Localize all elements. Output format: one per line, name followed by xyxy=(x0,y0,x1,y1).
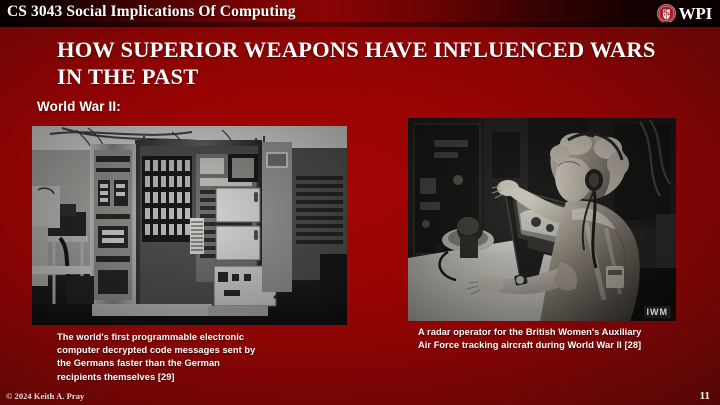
copyright-notice: © 2024 Keith A. Pray xyxy=(6,392,84,401)
course-title: CS 3043 Social Implications Of Computing xyxy=(7,3,296,21)
slide: CS 3043 Social Implications Of Computing… xyxy=(0,0,720,405)
wpi-seal-icon xyxy=(657,4,676,23)
radar-operator-photo: IWM xyxy=(408,118,676,321)
iwm-watermark: IWM xyxy=(644,306,672,318)
colossus-computer-photo xyxy=(32,126,347,325)
slide-title: How Superior Weapons Have Influenced War… xyxy=(57,36,657,90)
wpi-wordmark: WPI xyxy=(679,4,712,23)
caption-line: Air Force tracking aircraft during World… xyxy=(418,339,698,352)
radar-operator-caption: A radar operator for the British Women's… xyxy=(418,326,698,352)
slide-header-bar: CS 3043 Social Implications Of Computing… xyxy=(0,0,720,27)
caption-line: the Germans faster than the German xyxy=(57,357,325,370)
caption-line: computer decrypted code messages sent by xyxy=(57,344,325,357)
page-number: 11 xyxy=(700,390,710,402)
slide-subtitle: World War II: xyxy=(37,99,121,114)
caption-line: recipients themselves [29] xyxy=(57,371,325,384)
caption-line: The world's first programmable electroni… xyxy=(57,331,325,344)
caption-line: A radar operator for the British Women's… xyxy=(418,326,698,339)
wpi-logo: WPI xyxy=(657,2,712,25)
colossus-caption: The world's first programmable electroni… xyxy=(57,331,325,384)
